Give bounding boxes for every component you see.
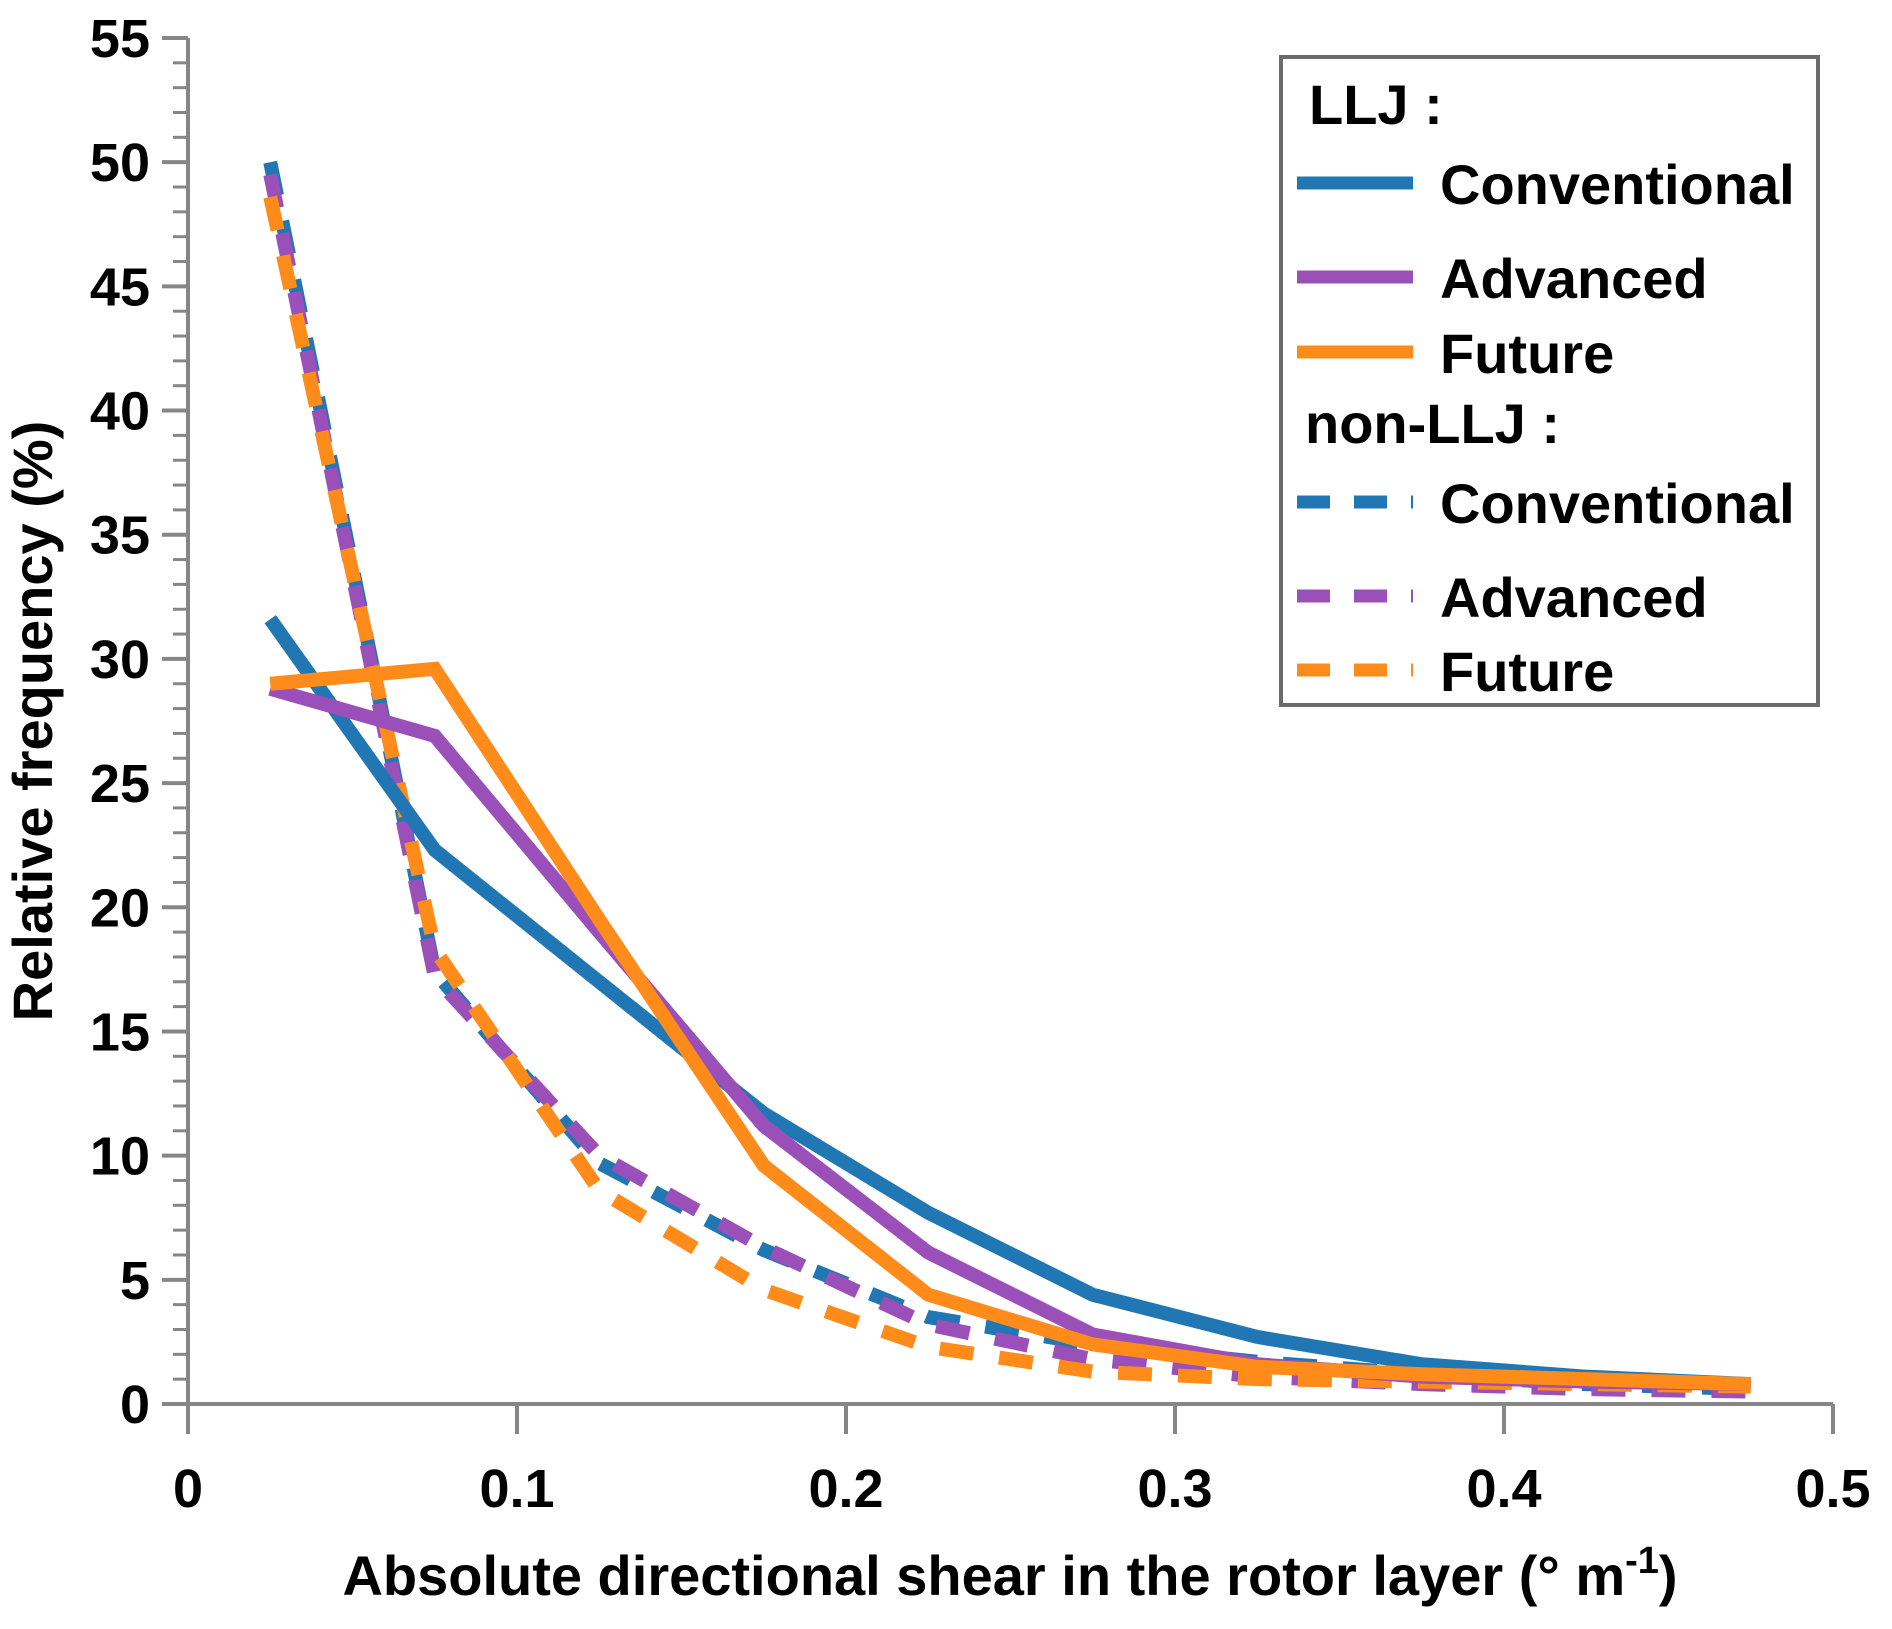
- x-tick-label: 0.5: [1795, 1459, 1870, 1519]
- y-tick-label: 25: [90, 754, 150, 814]
- y-axis-title: Relative frequency (%): [1, 421, 64, 1022]
- y-tick-label: 55: [90, 9, 150, 69]
- y-tick-label: 10: [90, 1127, 150, 1187]
- legend-label-non-llj-future: Future: [1440, 640, 1614, 703]
- chart-legend[interactable]: LLJ : Conventional Advanced Future non-L…: [1281, 57, 1818, 705]
- y-tick-label: 30: [90, 630, 150, 690]
- y-axis-ticks: [162, 38, 188, 1404]
- x-axis-title-exponent: -1: [1625, 1540, 1659, 1582]
- legend-label-llj-conventional: Conventional: [1440, 153, 1795, 216]
- x-tick-label: 0: [173, 1459, 203, 1519]
- y-tick-label: 40: [90, 382, 150, 442]
- x-tick-label: 0.3: [1137, 1459, 1212, 1519]
- x-axis-ticks: [188, 1404, 1833, 1434]
- y-axis-tick-labels: 0510152025303540455055: [90, 9, 150, 1435]
- legend-label-llj-future: Future: [1440, 322, 1614, 385]
- x-axis-title-main: Absolute directional shear in the rotor …: [342, 1544, 1625, 1607]
- x-tick-label: 0.2: [808, 1459, 883, 1519]
- svg-text:Absolute directional shear in: Absolute directional shear in the rotor …: [342, 1540, 1677, 1607]
- legend-group-llj: LLJ :: [1309, 73, 1443, 136]
- y-tick-label: 50: [90, 133, 150, 193]
- relative-frequency-line-chart: 0510152025303540455055 00.10.20.30.40.5 …: [0, 0, 1892, 1629]
- legend-label-llj-advanced: Advanced: [1440, 247, 1708, 310]
- chart-page: 0510152025303540455055 00.10.20.30.40.5 …: [0, 0, 1892, 1629]
- y-tick-label: 20: [90, 878, 150, 938]
- x-tick-label: 0.1: [479, 1459, 554, 1519]
- y-tick-label: 45: [90, 257, 150, 317]
- y-tick-label: 0: [120, 1375, 150, 1435]
- y-tick-label: 15: [90, 1002, 150, 1062]
- legend-group-non-llj: non-LLJ :: [1305, 392, 1560, 455]
- y-tick-label: 35: [90, 506, 150, 566]
- legend-label-non-llj-conventional: Conventional: [1440, 472, 1795, 535]
- x-axis-tick-labels: 00.10.20.30.40.5: [173, 1459, 1871, 1519]
- x-tick-label: 0.4: [1466, 1459, 1541, 1519]
- x-axis-title: Absolute directional shear in the rotor …: [342, 1540, 1677, 1607]
- y-tick-label: 5: [120, 1251, 150, 1311]
- legend-label-non-llj-advanced: Advanced: [1440, 566, 1708, 629]
